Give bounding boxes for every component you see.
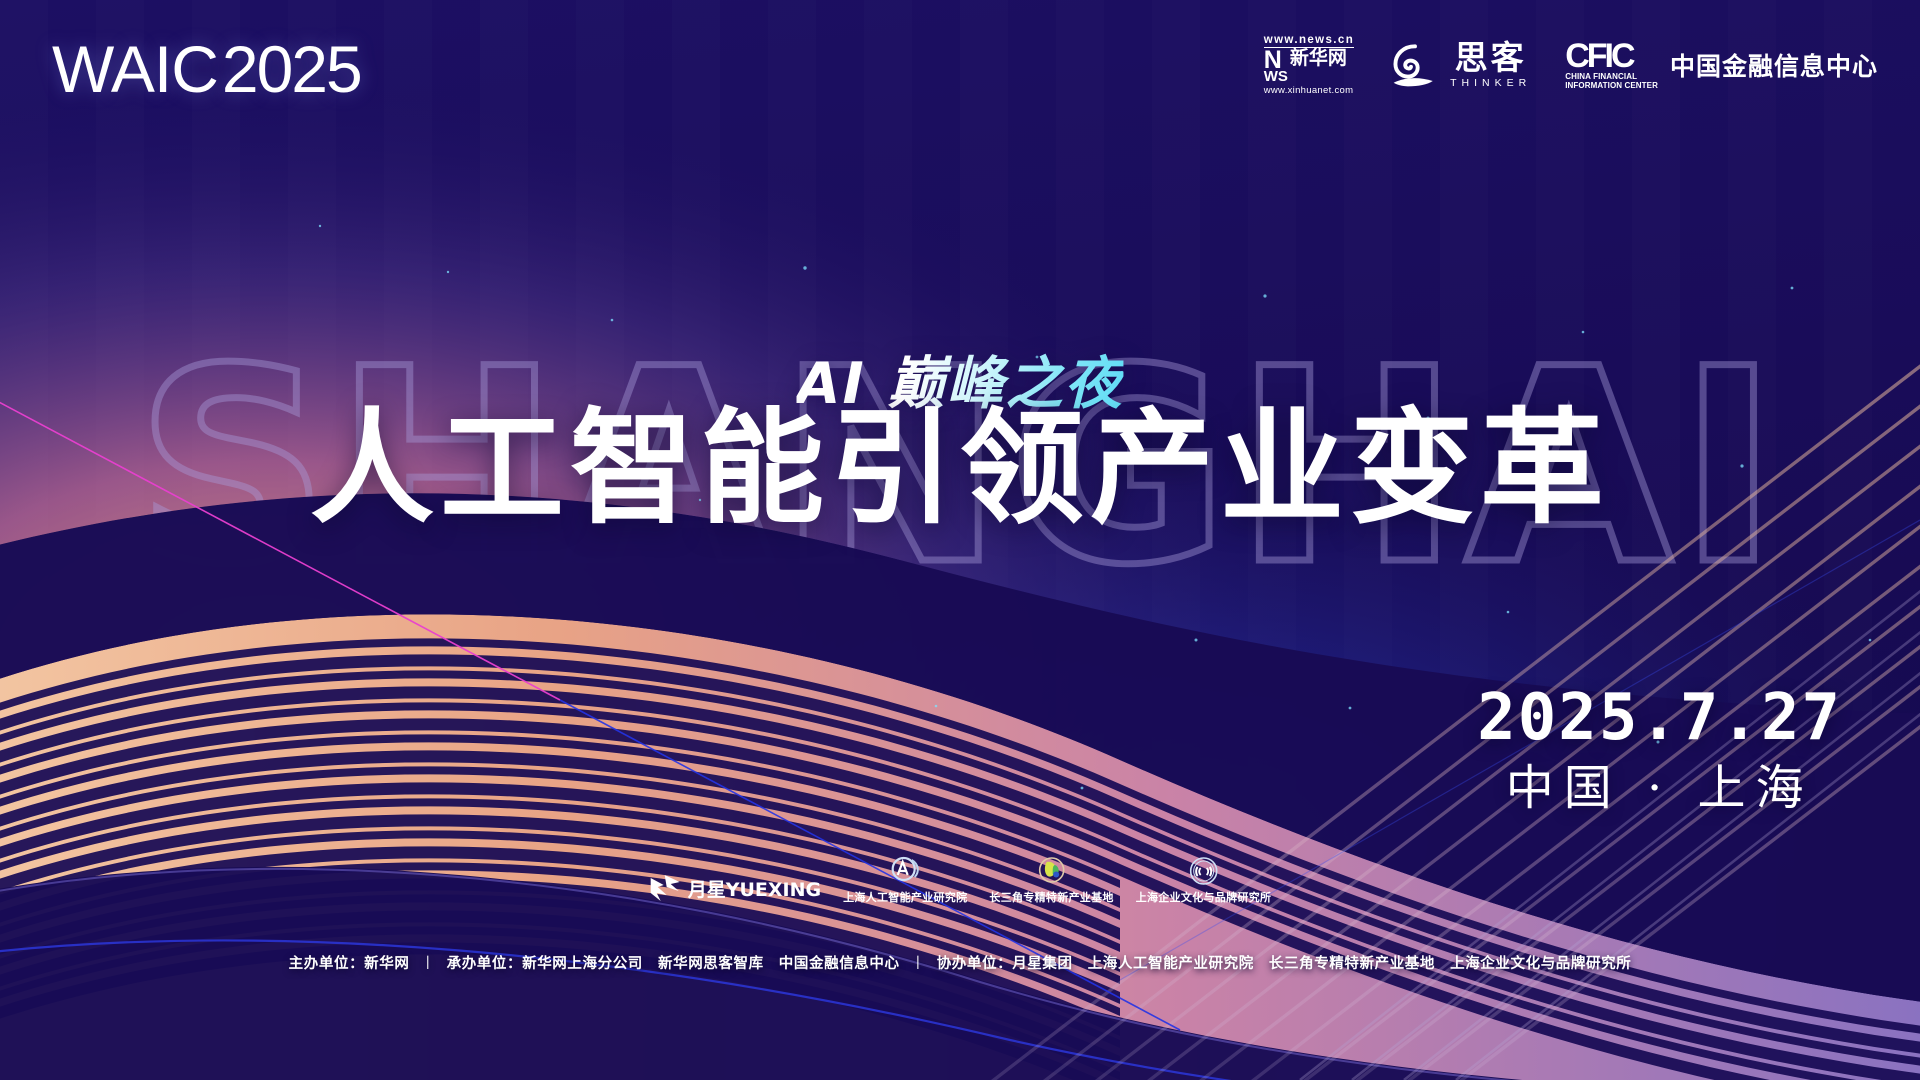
waic-logo: WAIC2025 xyxy=(52,36,361,102)
xinhuanet-initial-ws: WS xyxy=(1264,71,1288,83)
sponsor-logo-thinker: 思客 THINKER xyxy=(1388,41,1531,89)
partner-logo-yangtze-base: 长三角专精特新产业基地 xyxy=(989,856,1113,905)
partner-logo-ai-institute: 上海人工智能产业研究院 xyxy=(843,856,967,905)
credits-organizer-label: 承办单位： xyxy=(447,956,523,972)
credits-host-label: 主办单位： xyxy=(289,956,365,972)
event-location: 中国 · 上海 xyxy=(1477,764,1842,812)
waic-logo-text: WAIC xyxy=(52,32,218,106)
partner-logo-row: 月星YUEXING 上海人工智能产业研究院 长三角专精特新产业基地 xyxy=(649,856,1272,905)
brand-institute-icon xyxy=(1189,856,1219,886)
xinhuanet-initial: N WS xyxy=(1264,49,1288,83)
yuexing-bird-icon xyxy=(649,873,683,903)
partner-logo-brand-institute: 上海企业文化与品牌研究所 xyxy=(1136,856,1272,905)
cfic-mark: CFIC xyxy=(1565,40,1658,72)
thinker-swirl-icon xyxy=(1388,41,1442,89)
event-headline: 人工智能引领产业变革 xyxy=(310,400,1610,539)
credits-coorganizer-value: 月星集团 上海人工智能产业研究院 长三角专精特新产业基地 上海企业文化与品牌研究… xyxy=(1012,956,1631,972)
thinker-cn-name: 思客 xyxy=(1455,41,1527,74)
poster-stage: SHANGHAI xyxy=(0,0,1920,1080)
sponsor-logo-cfic: CFIC CHINA FINANCIAL INFORMATION CENTER … xyxy=(1565,40,1878,91)
partner-label-yuexing: 月星YUEXING xyxy=(688,875,821,902)
credits-organizer-value: 新华网上海分公司 新华网思客智库 中国金融信息中心 xyxy=(522,956,900,972)
credits-coorganizer-label: 协办单位： xyxy=(937,956,1013,972)
date-location-block: 2025.7.27 中国 · 上海 xyxy=(1477,686,1842,812)
sponsor-logo-row: www.news.cn N WS 新华网 www.xinhuanet.com 思… xyxy=(1264,34,1878,96)
ai-institute-icon xyxy=(889,856,921,886)
partner-logo-yuexing: 月星YUEXING xyxy=(649,873,821,903)
cfic-en-line2: INFORMATION CENTER xyxy=(1565,81,1658,90)
partner-label-ai-institute: 上海人工智能产业研究院 xyxy=(843,889,967,905)
partner-label-yangtze-base: 长三角专精特新产业基地 xyxy=(989,889,1113,905)
event-date: 2025.7.27 xyxy=(1477,686,1842,750)
waic-logo-year: 2025 xyxy=(222,32,361,106)
xinhuanet-url-bottom: www.xinhuanet.com xyxy=(1264,85,1354,96)
credits-separator-2: 丨 xyxy=(911,956,926,972)
yangtze-base-icon xyxy=(1036,856,1068,886)
thinker-en-name: THINKER xyxy=(1450,77,1531,89)
cfic-en-line1: CHINA FINANCIAL xyxy=(1565,72,1658,81)
sponsor-logo-xinhuanet: www.news.cn N WS 新华网 www.xinhuanet.com xyxy=(1264,34,1354,96)
credits-line: 主办单位：新华网丨承办单位：新华网上海分公司 新华网思客智库 中国金融信息中心丨… xyxy=(289,952,1632,973)
xinhuanet-cn-name: 新华网 xyxy=(1290,49,1347,68)
partner-label-brand-institute: 上海企业文化与品牌研究所 xyxy=(1136,889,1272,905)
credits-host-value: 新华网 xyxy=(364,956,409,972)
credits-separator-1: 丨 xyxy=(420,956,435,972)
cfic-cn-name: 中国金融信息中心 xyxy=(1670,47,1878,83)
